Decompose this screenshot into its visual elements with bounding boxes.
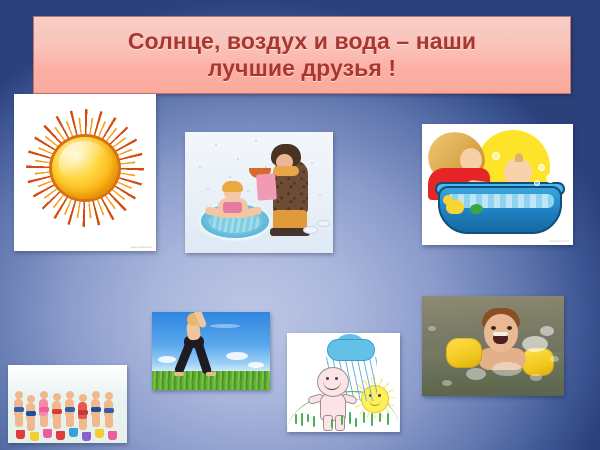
bucket-blue <box>69 428 78 437</box>
baby-bath-illustration <box>422 124 573 245</box>
winter-bather-hair <box>222 181 243 192</box>
swimmer-teeth <box>493 332 508 336</box>
children-with-buckets-photo <box>8 365 127 443</box>
bucket-purple <box>82 432 91 441</box>
child-drawing-rain-and-sun <box>287 333 400 432</box>
title-banner: Солнце, воздух и вода – наши лучшие друз… <box>33 16 571 94</box>
stretch-foot-right <box>206 372 216 376</box>
armband-right <box>522 348 554 376</box>
bucket-pink <box>43 429 52 438</box>
winter-bather-swimsuit <box>223 202 242 213</box>
winter-helper-scarf <box>273 166 299 176</box>
baby-bath-watermark: clipartof.com <box>549 239 569 243</box>
sun-gloss-highlight <box>59 141 109 185</box>
sun-illustration <box>14 94 156 251</box>
bath-toy-green <box>470 204 483 214</box>
title-line-2: лучшие друзья ! <box>208 55 396 82</box>
drawn-rain-cloud-icon <box>327 339 375 361</box>
winter-towel <box>256 173 277 200</box>
baby-hair-curl <box>515 153 523 162</box>
bucket-red-2 <box>56 431 65 440</box>
swimming-boy-photo <box>422 296 564 396</box>
sun-watermark: depositphotos <box>131 245 152 249</box>
child-drawing-image-tile[interactable] <box>287 333 400 432</box>
bucket-yellow-2 <box>95 429 104 438</box>
rubber-duck-head <box>443 195 453 205</box>
bucket-red <box>16 430 25 439</box>
winter-bathing-image-tile[interactable] <box>185 132 333 253</box>
swimming-boy-image-tile[interactable] <box>422 296 564 396</box>
presentation-slide: Солнце, воздух и вода – наши лучшие друз… <box>0 0 600 450</box>
sun-image-tile[interactable]: depositphotos <box>14 94 156 251</box>
armband-left <box>446 338 482 368</box>
bucket-pink-2 <box>108 431 117 440</box>
bucket-yellow <box>30 432 39 441</box>
title-line-1: Солнце, воздух и вода – наши <box>128 28 476 55</box>
stretching-image-tile[interactable] <box>152 312 270 390</box>
baby-bath-image-tile[interactable]: clipartof.com <box>422 124 573 245</box>
drawn-boy-leg-right <box>335 415 345 431</box>
stretch-foot-left <box>174 372 184 376</box>
children-buckets-image-tile[interactable] <box>8 365 127 443</box>
woman-stretching-photo <box>152 312 270 390</box>
winter-ice-bathing-illustration <box>185 132 333 253</box>
